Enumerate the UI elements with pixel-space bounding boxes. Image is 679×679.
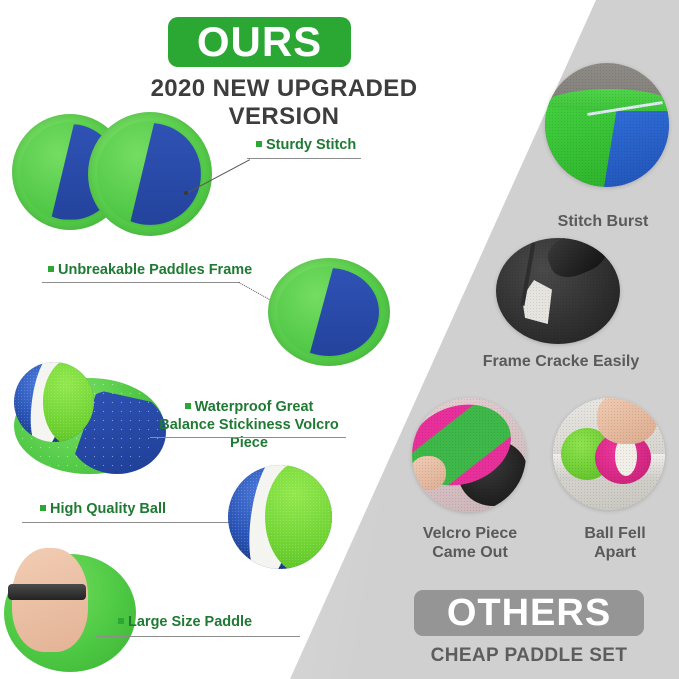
callout-waterproof-line1: Waterproof Great	[195, 399, 314, 415]
photo-grain	[545, 63, 669, 187]
comparison-infographic: OURS 2020 NEW UPGRADED VERSION Sturdy St…	[0, 0, 679, 679]
callout-unbreakable-frame-label: Unbreakable Paddles Frame	[58, 262, 252, 278]
others-badge: OTHERS	[414, 590, 644, 636]
photo-burst-stitch	[545, 63, 669, 187]
callout-waterproof-line1-row: Waterproof Great	[140, 398, 358, 416]
bullet-square-icon	[40, 505, 46, 511]
bullet-square-icon	[185, 403, 191, 409]
photo-grain	[412, 398, 526, 512]
ours-badge: OURS	[168, 17, 351, 67]
photo-paddle-pair-front	[88, 112, 212, 236]
photo-velcro-peeling	[412, 398, 526, 512]
callout-sturdy-stitch: Sturdy Stitch	[256, 136, 356, 154]
callout-waterproof-line2: Balance Stickiness Volcro Piece	[140, 416, 358, 452]
photo-ball-on-paddle	[14, 362, 94, 442]
photo-cracked-frame	[496, 238, 620, 344]
callout-waterproof-velcro: Waterproof Great Balance Stickiness Volc…	[140, 398, 358, 452]
ours-badge-label: OURS	[197, 21, 322, 63]
photo-torn-ball	[553, 398, 665, 510]
ball-texture	[14, 362, 94, 442]
leader-line-high-quality-ball	[22, 522, 230, 523]
paddle-velcro-face	[99, 123, 201, 225]
paddle-velcro-face	[279, 268, 379, 357]
leader-line-sturdy-stitch	[247, 158, 361, 159]
leader-line-unbreakable-frame	[42, 282, 240, 283]
photo-quality-ball	[228, 465, 332, 569]
photo-grain	[496, 238, 620, 344]
hand-shape	[12, 548, 88, 652]
label-ball-fell-apart: Ball Fell Apart	[556, 524, 674, 562]
leader-line-waterproof-velcro	[150, 437, 346, 438]
leader-line-large-size-paddle	[96, 636, 300, 637]
leader-dot-sturdy-stitch	[184, 191, 188, 195]
label-velcro-piece-came-out: Velcro Piece Came Out	[392, 524, 548, 562]
callout-high-quality-ball-label: High Quality Ball	[50, 501, 166, 517]
bullet-square-icon	[256, 141, 262, 147]
bullet-square-icon	[118, 618, 124, 624]
others-badge-label: OTHERS	[447, 594, 611, 632]
ball-texture	[228, 465, 332, 569]
others-subtitle: CHEAP PADDLE SET	[394, 645, 664, 667]
callout-unbreakable-frame: Unbreakable Paddles Frame	[48, 261, 252, 279]
callout-large-size-paddle-label: Large Size Paddle	[128, 614, 252, 630]
callout-high-quality-ball: High Quality Ball	[40, 500, 166, 518]
label-stitch-burst: Stitch Burst	[528, 212, 678, 231]
photo-grain	[553, 398, 665, 510]
label-frame-cracke-easily: Frame Cracke Easily	[452, 352, 670, 371]
paddle-hand-strap	[8, 584, 86, 600]
photo-paddle-single	[268, 258, 390, 366]
callout-sturdy-stitch-label: Sturdy Stitch	[266, 137, 356, 153]
callout-large-size-paddle: Large Size Paddle	[118, 613, 252, 631]
bullet-square-icon	[48, 266, 54, 272]
